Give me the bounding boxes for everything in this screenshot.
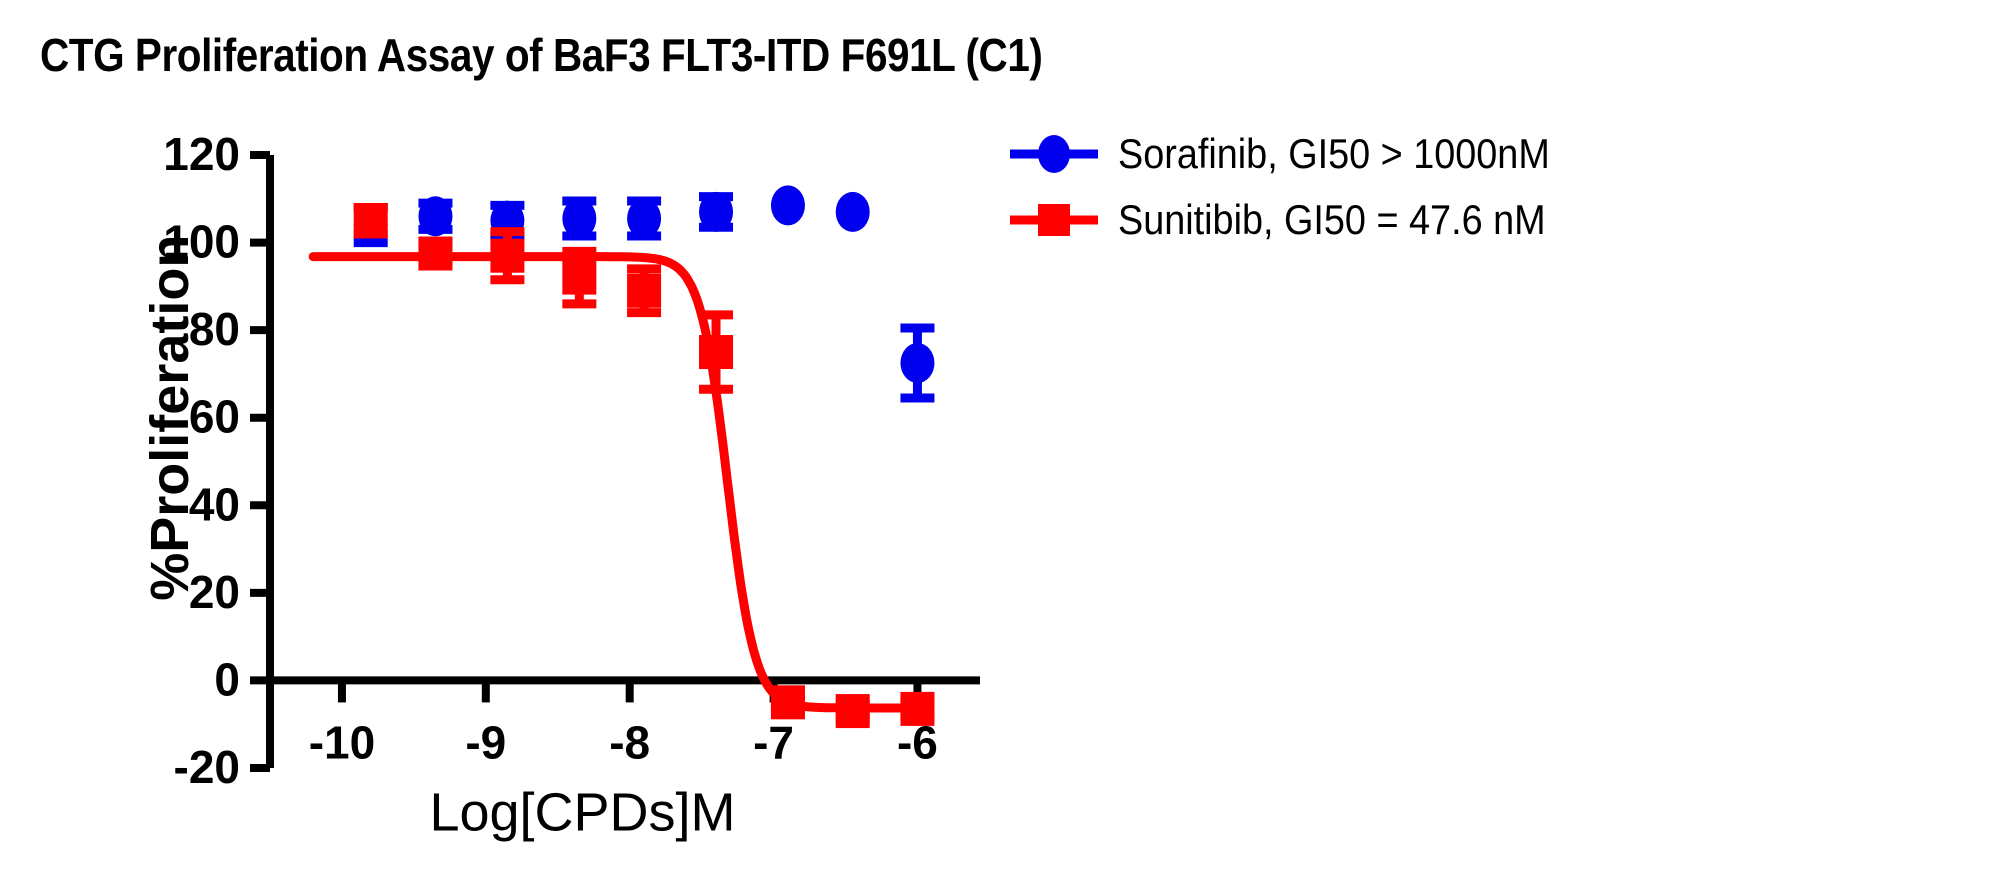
data-point[interactable]: [418, 196, 452, 236]
legend-item-sorafinib[interactable]: Sorafinib, GI50 > 1000nM: [1000, 126, 2003, 182]
data-point[interactable]: [900, 343, 934, 383]
data-point[interactable]: [836, 192, 870, 232]
legend-label-sorafinib: Sorafinib, GI50 > 1000nM: [1118, 133, 1550, 175]
y-tick-label: 0: [214, 653, 240, 705]
plot-area: -20020406080100120 -10-9-8-7-6 Log[CPDs]…: [0, 0, 1000, 876]
chart-root: CTG Proliferation Assay of BaF3 FLT3-ITD…: [0, 0, 2003, 876]
x-tick-label: -10: [309, 716, 375, 768]
y-tick-label: 120: [163, 128, 240, 180]
data-point[interactable]: [490, 239, 524, 273]
data-point[interactable]: [699, 335, 733, 369]
x-axis: -10-9-8-7-6: [270, 680, 980, 768]
fit-curve: [313, 257, 924, 708]
legend-marker-circle-icon: [1008, 134, 1100, 174]
x-tick-label: -7: [753, 716, 794, 768]
data-point[interactable]: [627, 198, 661, 238]
data-point[interactable]: [771, 185, 805, 225]
data-point[interactable]: [562, 261, 596, 295]
data-point[interactable]: [900, 692, 934, 726]
x-tick-label: -8: [609, 716, 650, 768]
x-tick-label: -9: [465, 716, 506, 768]
legend-marker-square-icon: [1008, 200, 1100, 240]
data-point[interactable]: [562, 198, 596, 238]
y-axis-title: %Proliferation: [140, 235, 200, 601]
data-series-group: [313, 185, 934, 728]
legend-item-sunitibib[interactable]: Sunitibib, GI50 = 47.6 nM: [1000, 192, 2003, 248]
data-point[interactable]: [627, 274, 661, 308]
legend: Sorafinib, GI50 > 1000nM Sunitibib, GI50…: [1000, 126, 2003, 258]
data-point[interactable]: [354, 204, 388, 238]
data-point[interactable]: [771, 685, 805, 719]
x-axis-title: Log[CPDs]M: [429, 782, 735, 842]
data-point[interactable]: [836, 694, 870, 728]
data-point[interactable]: [418, 237, 452, 271]
y-tick-label: -20: [174, 741, 240, 793]
plot-canvas: -20020406080100120 -10-9-8-7-6 Log[CPDs]…: [0, 0, 1000, 876]
legend-label-sunitibib: Sunitibib, GI50 = 47.6 nM: [1118, 199, 1546, 241]
data-point[interactable]: [699, 192, 733, 232]
